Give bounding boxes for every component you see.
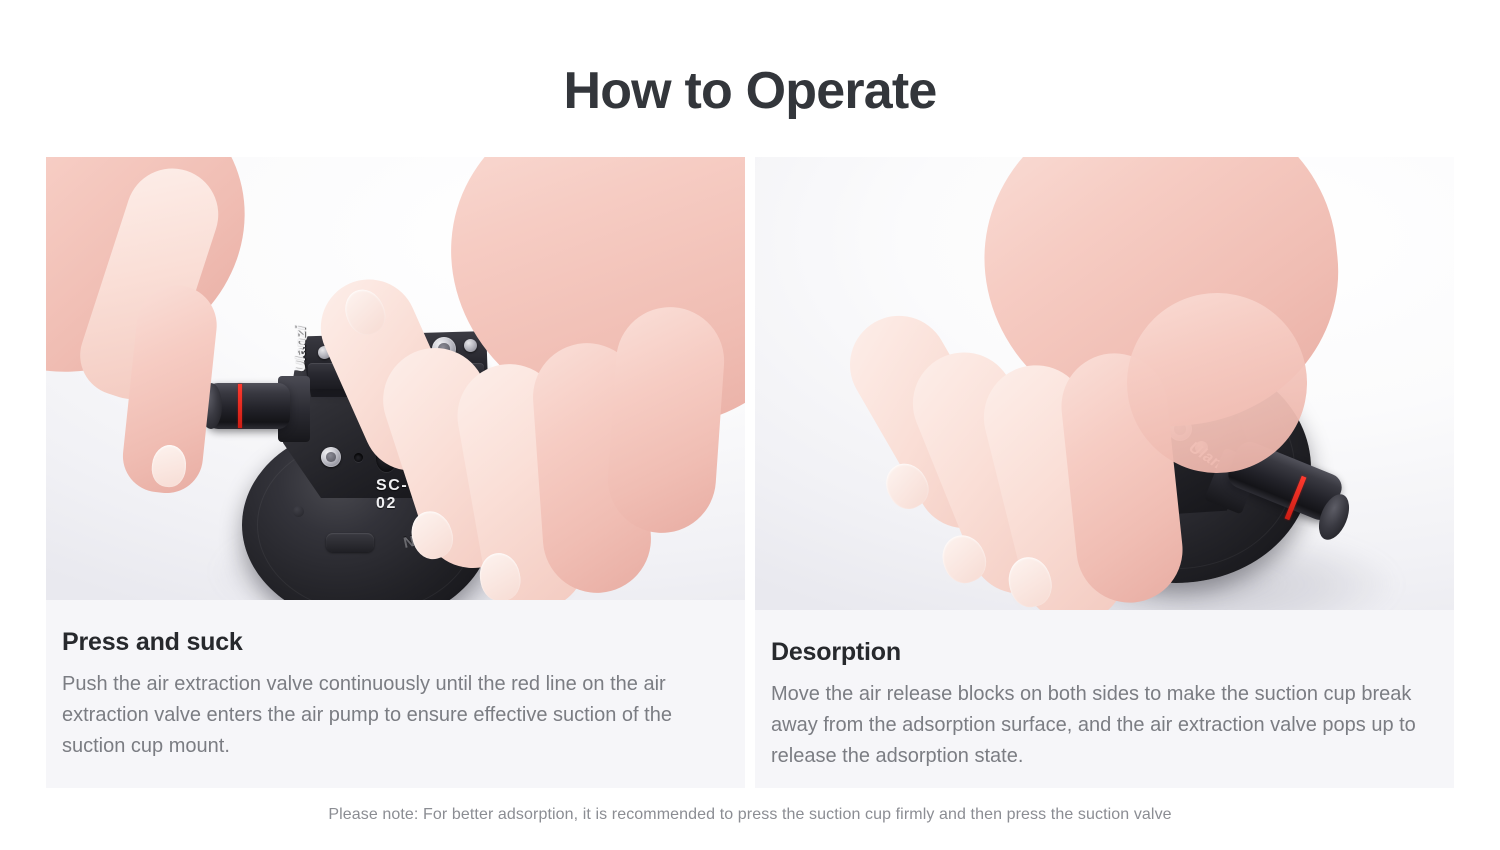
caption-press-and-suck: Press and suck Push the air extraction v…: [46, 600, 745, 762]
mount-side-bolt: [321, 447, 341, 467]
valve-red-line: [238, 384, 242, 428]
plate-screw-right: [464, 339, 477, 352]
caption-desorption: Desorption Move the air release blocks o…: [755, 610, 1454, 772]
air-release-dot: [293, 506, 304, 517]
steps-container: OPEN SC-02: [46, 157, 1455, 788]
air-release-block: [326, 533, 374, 552]
caption-title: Press and suck: [62, 628, 745, 657]
product-photo-press-and-suck: OPEN SC-02: [46, 157, 745, 600]
caption-title: Desorption: [771, 638, 1454, 667]
step-panel-press-and-suck: OPEN SC-02: [46, 157, 745, 788]
mount-hole-small-lower-left: [354, 453, 363, 462]
product-model-label: SC-02: [376, 477, 408, 513]
caption-body: Push the air extraction valve continuous…: [62, 669, 730, 762]
product-photo-desorption: OPEN Ulanzi: [755, 157, 1454, 610]
step-panel-desorption: OPEN Ulanzi: [755, 157, 1454, 788]
page-title: How to Operate: [0, 64, 1500, 119]
right-hand-finger-5: [604, 304, 728, 537]
product-brand-label: Ulanzi: [292, 325, 309, 372]
footer-note: Please note: For better adsorption, it i…: [0, 806, 1500, 824]
caption-body: Move the air release blocks on both side…: [771, 679, 1439, 772]
